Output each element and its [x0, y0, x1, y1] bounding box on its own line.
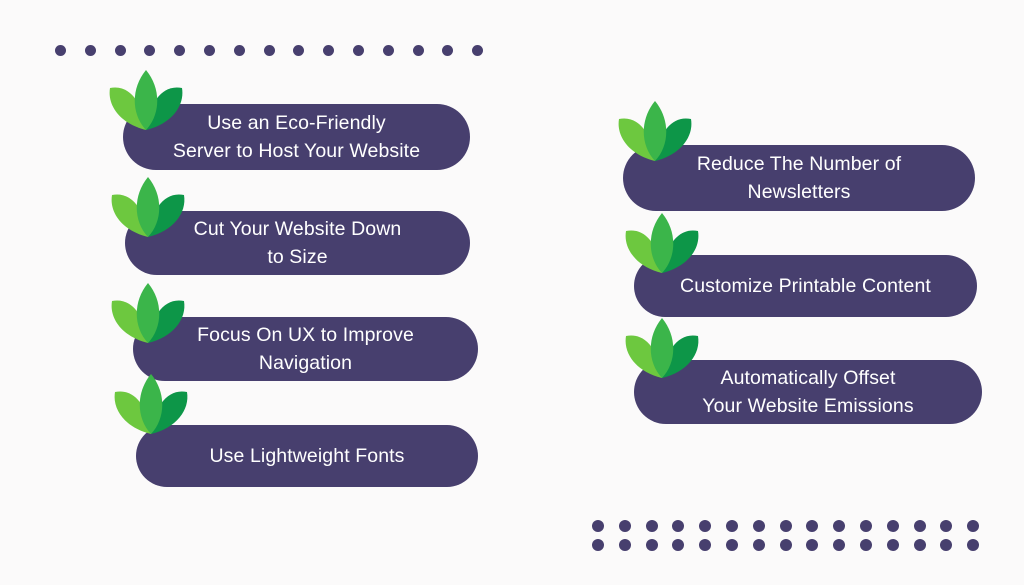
dot-icon: [967, 539, 979, 551]
dot-icon: [413, 45, 424, 56]
top-dot-row: [55, 45, 483, 56]
dot-icon: [264, 45, 275, 56]
dot-icon: [619, 520, 631, 532]
tip-label: Use an Eco-Friendly Server to Host Your …: [173, 109, 420, 165]
dot-icon: [293, 45, 304, 56]
dot-icon: [85, 45, 96, 56]
dot-icon: [144, 45, 155, 56]
dot-icon: [914, 539, 926, 551]
dot-icon: [726, 539, 738, 551]
tip-pill[interactable]: Use Lightweight Fonts: [136, 425, 478, 487]
tip-pill[interactable]: Automatically Offset Your Website Emissi…: [634, 360, 982, 424]
tip-pill[interactable]: Customize Printable Content: [634, 255, 977, 317]
dot-icon: [672, 539, 684, 551]
dot-icon: [806, 520, 818, 532]
dot-icon: [323, 45, 334, 56]
tip-pill[interactable]: Focus On UX to Improve Navigation: [133, 317, 478, 381]
dot-icon: [204, 45, 215, 56]
dot-icon: [383, 45, 394, 56]
dot-icon: [442, 45, 453, 56]
dot-icon: [353, 45, 364, 56]
dot-icon: [115, 45, 126, 56]
infographic-canvas: Use an Eco-Friendly Server to Host Your …: [0, 0, 1024, 585]
dot-icon: [780, 539, 792, 551]
dot-icon: [860, 520, 872, 532]
dot-icon: [940, 539, 952, 551]
dot-icon: [833, 520, 845, 532]
dot-icon: [646, 520, 658, 532]
bottom-dot-grid: [592, 520, 979, 551]
dot-grid-row: [592, 539, 979, 551]
tip-label: Customize Printable Content: [680, 272, 931, 300]
tip-pill[interactable]: Use an Eco-Friendly Server to Host Your …: [123, 104, 470, 170]
dot-icon: [472, 45, 483, 56]
tip-label: Automatically Offset Your Website Emissi…: [702, 364, 913, 420]
dot-icon: [699, 520, 711, 532]
dot-icon: [55, 45, 66, 56]
dot-icon: [887, 520, 899, 532]
tip-label: Reduce The Number of Newsletters: [697, 150, 901, 206]
dot-icon: [940, 520, 952, 532]
dot-icon: [753, 539, 765, 551]
dot-icon: [833, 539, 845, 551]
dot-icon: [234, 45, 245, 56]
dot-icon: [592, 539, 604, 551]
dot-grid-row: [592, 520, 979, 532]
dot-icon: [672, 520, 684, 532]
dot-icon: [753, 520, 765, 532]
dot-icon: [699, 539, 711, 551]
tip-label: Focus On UX to Improve Navigation: [197, 321, 414, 377]
dot-icon: [860, 539, 872, 551]
dot-icon: [780, 520, 792, 532]
dot-icon: [806, 539, 818, 551]
tip-pill[interactable]: Cut Your Website Down to Size: [125, 211, 470, 275]
dot-icon: [619, 539, 631, 551]
dot-icon: [646, 539, 658, 551]
dot-icon: [726, 520, 738, 532]
dot-icon: [914, 520, 926, 532]
dot-icon: [887, 539, 899, 551]
tip-label: Use Lightweight Fonts: [209, 442, 404, 470]
dot-icon: [967, 520, 979, 532]
tip-pill[interactable]: Reduce The Number of Newsletters: [623, 145, 975, 211]
dot-icon: [174, 45, 185, 56]
dot-icon: [592, 520, 604, 532]
tip-label: Cut Your Website Down to Size: [194, 215, 402, 271]
